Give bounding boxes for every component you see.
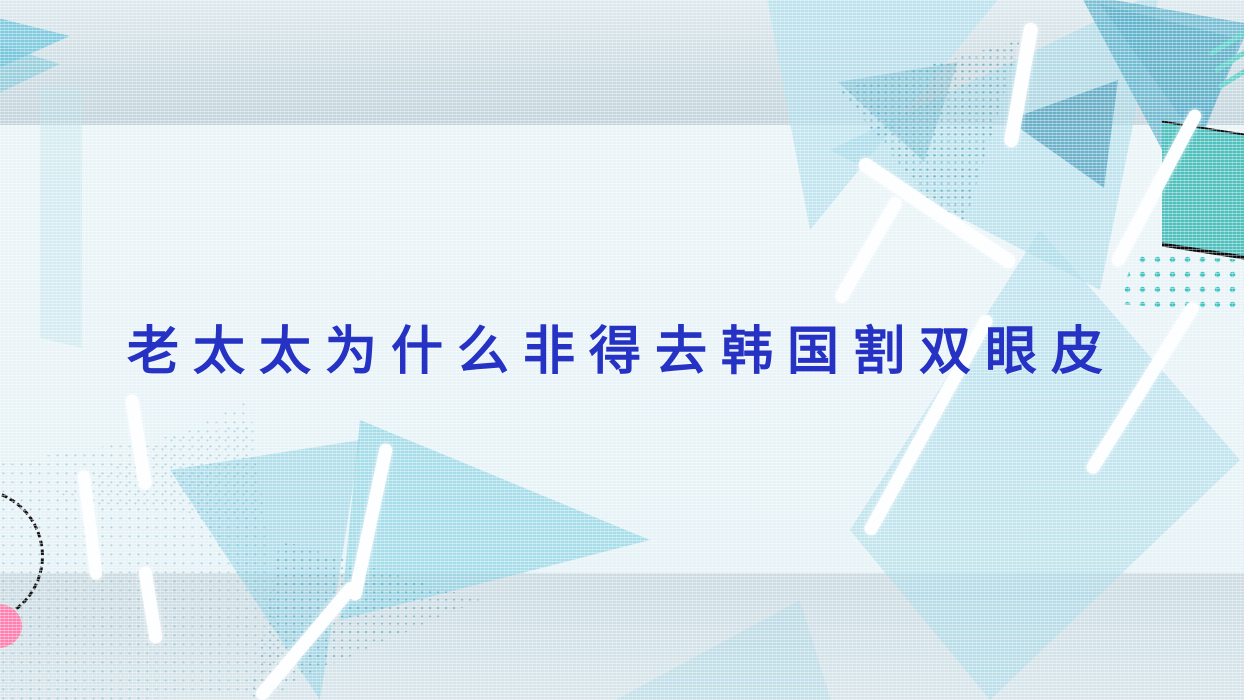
banner-canvas: 老太太为什么非得去韩国割双眼皮 xyxy=(0,0,1244,700)
page-title: 老太太为什么非得去韩国割双眼皮 xyxy=(127,309,1117,384)
headline-container: 老太太为什么非得去韩国割双眼皮 xyxy=(0,0,1244,700)
